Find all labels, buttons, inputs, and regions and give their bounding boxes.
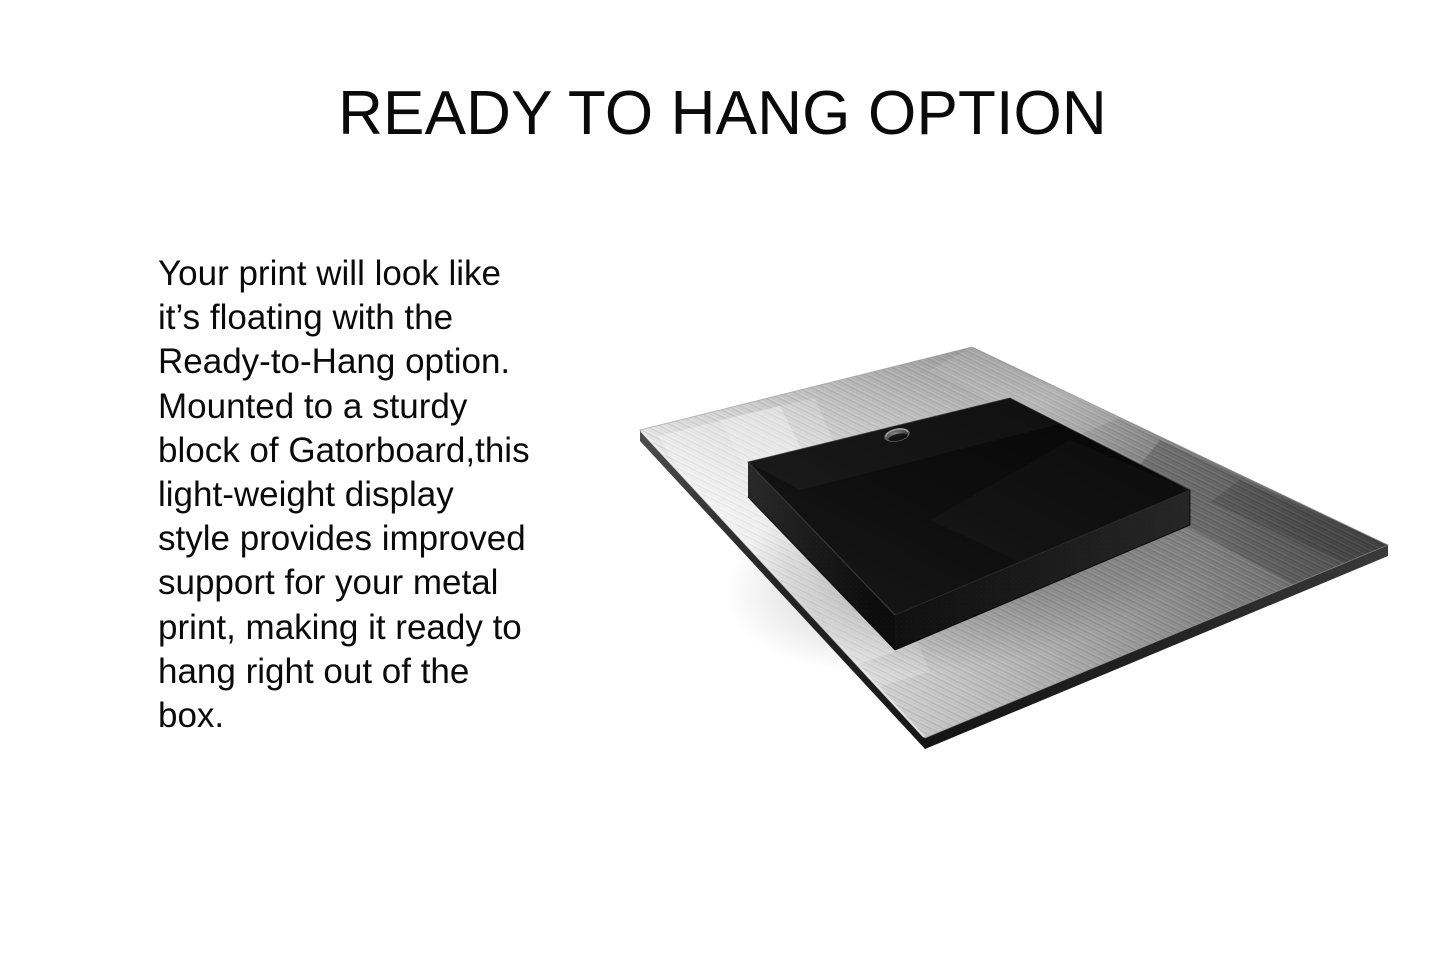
body-paragraph: Your print will look like it’s floating … xyxy=(158,252,568,738)
product-illustration xyxy=(600,320,1430,770)
slide-canvas: READY TO HANG OPTION Your print will loo… xyxy=(0,0,1445,963)
page-title: READY TO HANG OPTION xyxy=(0,78,1445,150)
metal-print-product-svg xyxy=(600,320,1430,770)
